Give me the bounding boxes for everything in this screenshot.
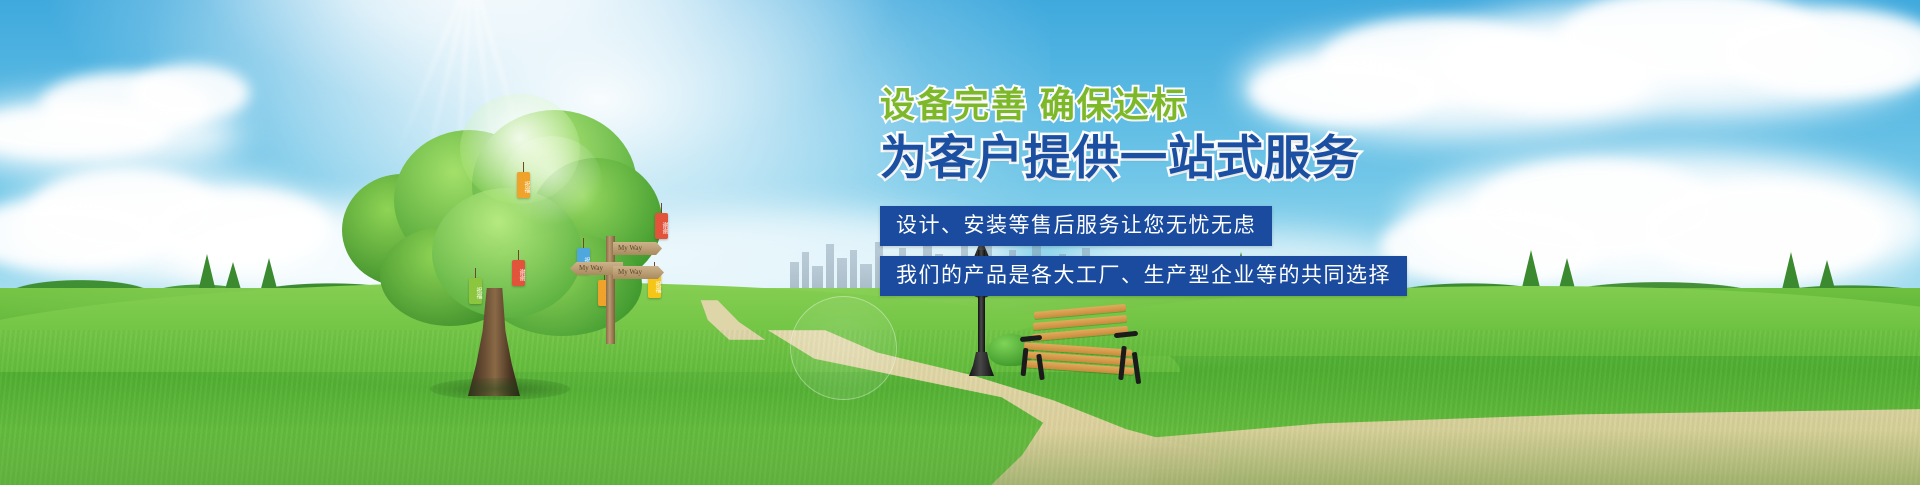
park-bench: [1016, 308, 1142, 384]
sub-message-2: 我们的产品是各大工厂、生产型企业等的共同选择: [880, 256, 1407, 296]
watermark-circle: [790, 296, 897, 400]
promo-banner: 祝福 谢谢 祝福 谢谢 祝福 祝福 谢谢 My Way My Way My Wa…: [0, 0, 1920, 485]
grass-shadow: [0, 430, 1920, 485]
wish-tag: 谢谢: [512, 260, 525, 286]
tree-shadow: [430, 378, 570, 400]
sub-message-list: 设计、安装等售后服务让您无忧无虑 我们的产品是各大工厂、生产型企业等的共同选择: [880, 206, 1500, 296]
cloud: [130, 64, 250, 122]
banner-copy: 设备完善 确保达标 为客户提供一站式服务 设计、安装等售后服务让您无忧无虑 我们…: [880, 86, 1500, 296]
headline-secondary: 为客户提供一站式服务: [880, 132, 1500, 184]
sub-message-row: 我们的产品是各大工厂、生产型企业等的共同选择: [880, 256, 1500, 296]
wish-tag: 谢谢: [655, 213, 668, 239]
wish-tag: 祝福: [469, 278, 482, 304]
sub-message-1: 设计、安装等售后服务让您无忧无虑: [880, 206, 1272, 246]
headline-primary: 设备完善 确保达标: [880, 86, 1500, 126]
sub-message-row: 设计、安装等售后服务让您无忧无虑: [880, 206, 1500, 246]
wish-tag: 祝福: [517, 172, 530, 198]
signpost-sign: My Way: [613, 242, 662, 255]
signpost-sign: My Way: [613, 266, 664, 279]
